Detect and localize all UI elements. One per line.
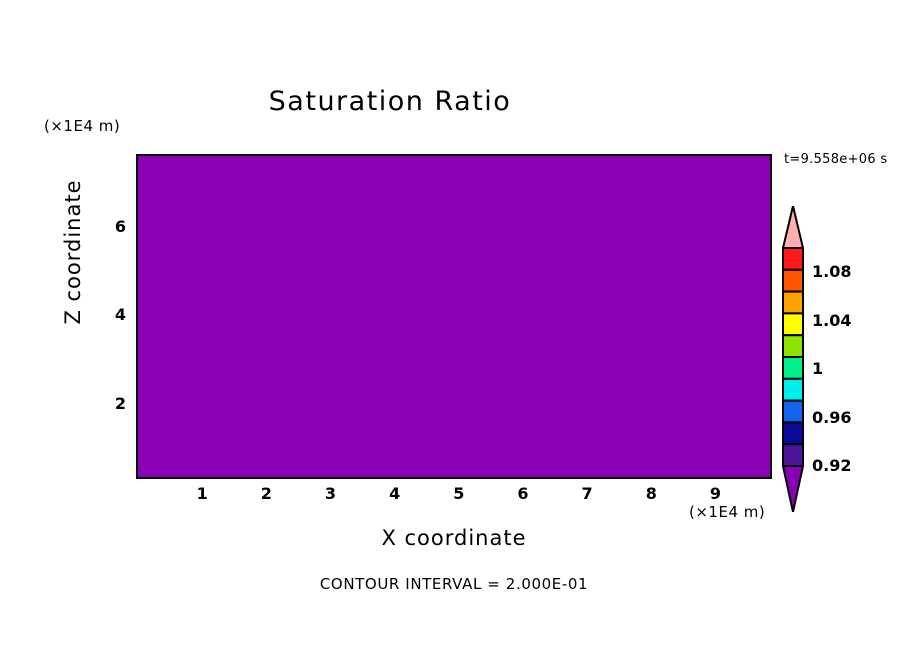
x-tick-label: 8 <box>636 484 666 503</box>
x-axis-unit-label: (×1E4 m) <box>689 503 765 521</box>
x-tick-label: 6 <box>508 484 538 503</box>
x-tick-label: 9 <box>700 484 730 503</box>
x-tick-label: 3 <box>315 484 345 503</box>
x-tick-label: 5 <box>444 484 474 503</box>
colorbar-tick-label: 1.04 <box>812 311 851 330</box>
x-axis-title: X coordinate <box>136 526 772 550</box>
x-tick-label: 4 <box>380 484 410 503</box>
page-title: Saturation Ratio <box>0 86 780 117</box>
y-axis-unit-label: (×1E4 m) <box>44 117 120 135</box>
colorbar-tick-label: 1 <box>812 359 823 378</box>
y-tick-label: 6 <box>100 217 126 236</box>
x-tick-label: 1 <box>187 484 217 503</box>
contour-interval-note: CONTOUR INTERVAL = 2.000E-01 <box>136 575 772 593</box>
colorbar-tick-label: 0.92 <box>812 456 851 475</box>
contour-canvas <box>138 156 770 477</box>
colorbar-tick-label: 1.08 <box>812 262 851 281</box>
y-tick-label: 4 <box>100 305 126 324</box>
colorbar-tick-label: 0.96 <box>812 408 851 427</box>
x-tick-label: 2 <box>251 484 281 503</box>
y-tick-label: 2 <box>100 394 126 413</box>
x-tick-label: 7 <box>572 484 602 503</box>
y-axis-title: Z coordinate <box>61 172 85 332</box>
colorbar <box>782 206 804 512</box>
contour-plot-area <box>136 154 772 479</box>
timestamp-label: t=9.558e+06 s <box>784 152 887 167</box>
